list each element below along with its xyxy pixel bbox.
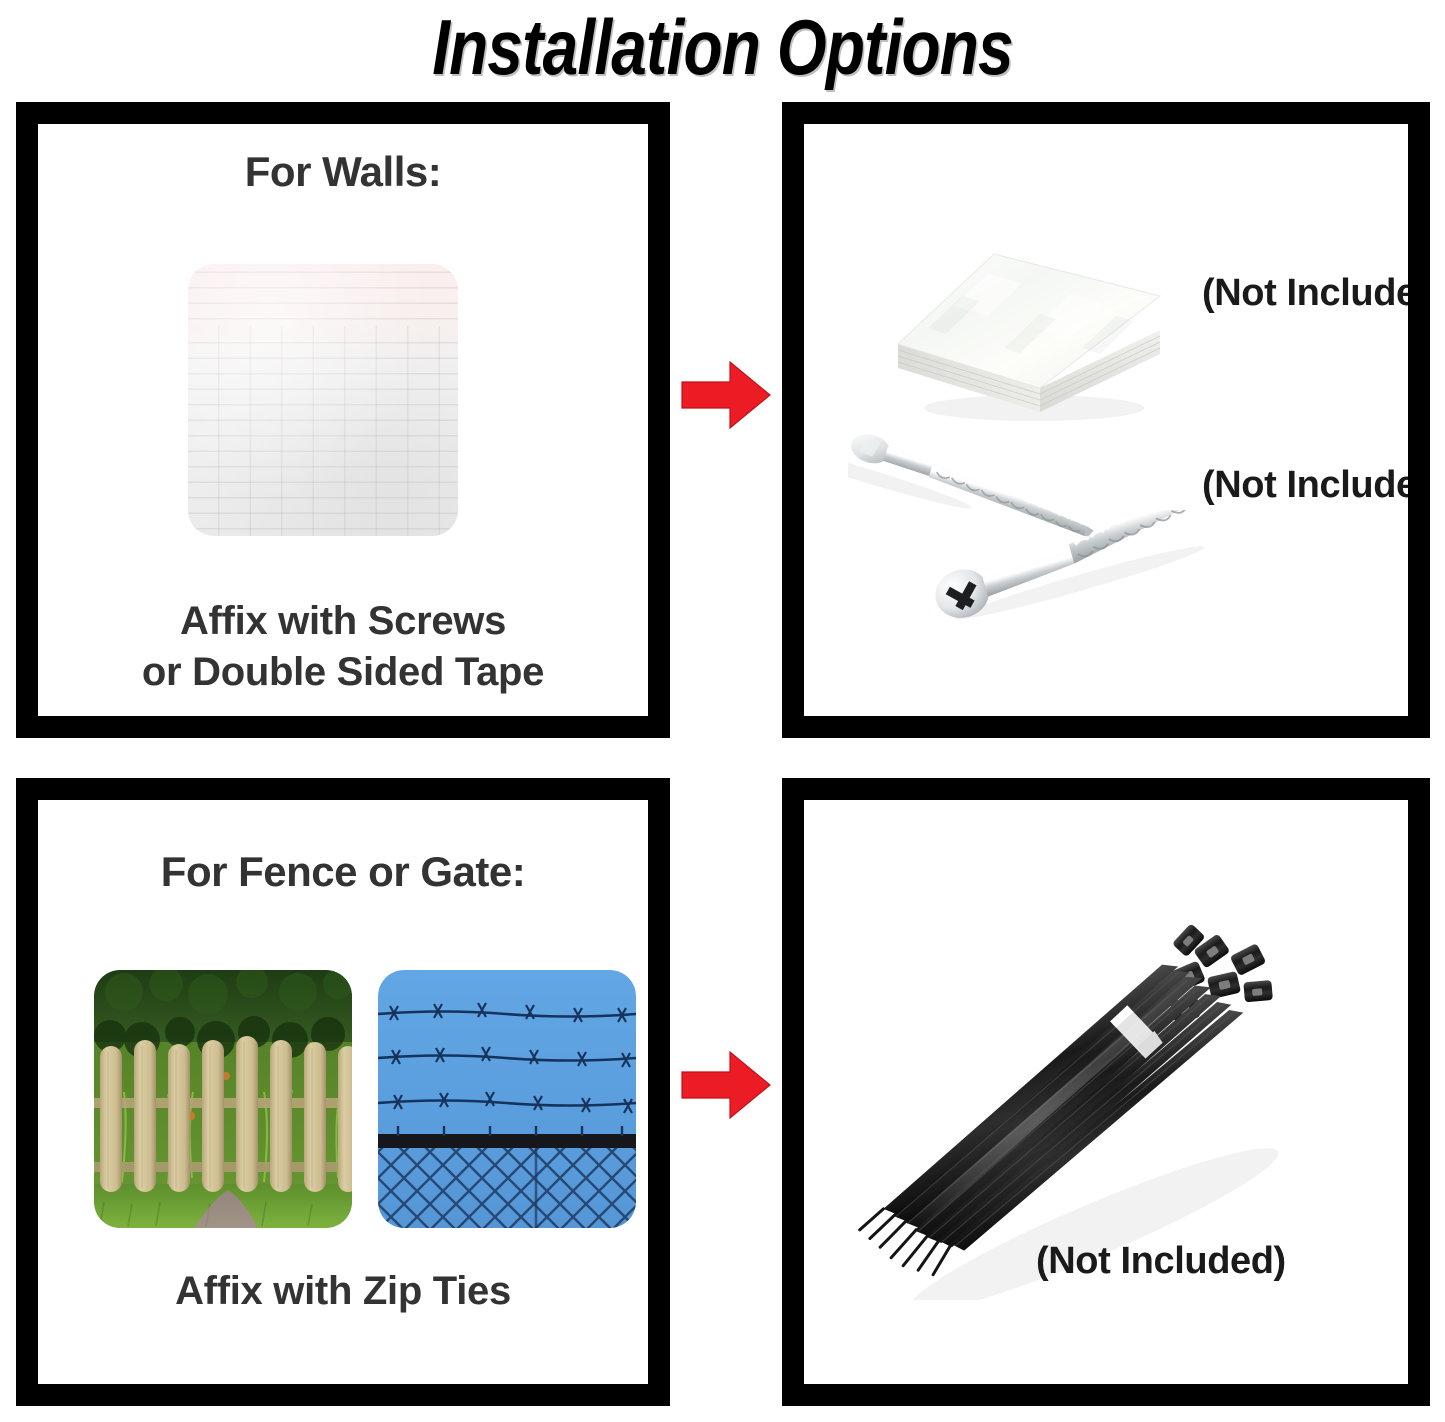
panel-for-walls: For Walls: Affix with Screws or Double S… [16,102,670,738]
panel-for-fence-heading: For Fence or Gate: [38,848,648,896]
panel-for-fence-inner: For Fence or Gate: [38,800,648,1384]
panel-for-fence-caption: Affix with Zip Ties [38,1266,648,1317]
panel-wall-hardware-inner: (Not Included) [804,124,1408,716]
panel-ziptie-hardware-inner: (Not Included) [804,800,1408,1384]
wood-screw-icon-2 [928,510,1278,630]
panel-for-walls-heading: For Walls: [38,148,648,196]
panel-for-walls-caption: Affix with Screws or Double Sided Tape [38,596,648,698]
double-sided-tape-stack-icon [884,236,1174,431]
alt-wood-fence: wooden-picket-fence [0,0,1,1]
brick-shading [188,264,458,536]
panel-for-walls-inner: For Walls: Affix with Screws or Double S… [38,124,648,716]
alt-tape-image: double-sided-tape-stack [0,0,1,1]
caption-line-2: or Double Sided Tape [38,647,648,698]
note-zipties-not-included: (Not Included) [1036,1240,1286,1283]
panel-for-fence-or-gate: For Fence or Gate: [16,778,670,1406]
barbed-wire-chain-link-fence-image [378,970,636,1228]
panel-wall-hardware: (Not Included) [782,102,1430,738]
alt-ziptie-image: black-zip-tie-bundle [0,0,1,1]
note-screws-not-included: (Not Included) [1202,464,1408,507]
note-tape-not-included: (Not Included) [1202,272,1408,315]
panel-ziptie-hardware: (Not Included) [782,778,1430,1406]
alt-wall-image: white-brick-wall [0,0,1,1]
arrow-right-icon-bottom [680,1048,772,1122]
caption-line-1: Affix with Screws [38,596,648,647]
alt-screws-image: wood-screws [0,0,1,1]
arrow-right-icon-top [680,358,772,432]
white-brick-wall-image [188,264,458,536]
wooden-picket-fence-image [94,970,352,1228]
page-title: Installation Options [130,0,1315,95]
alt-wire-fence: barbed-wire-chain-link-fence [0,0,1,1]
